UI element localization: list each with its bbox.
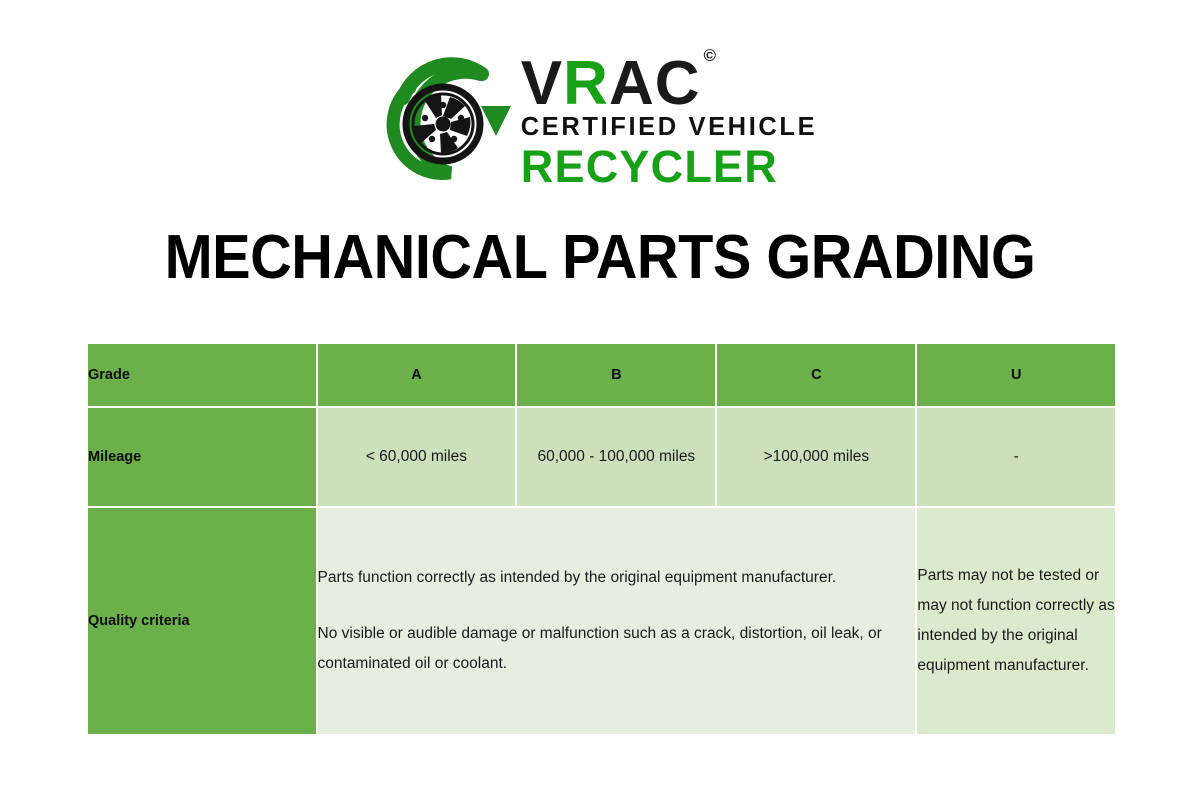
logo-letter-r: R [563, 49, 609, 118]
cell-quality-abc: Parts function correctly as intended by … [318, 508, 916, 734]
logo-letters-ac: AC [609, 49, 701, 118]
logo-letter-v: V [521, 49, 563, 118]
recycling-arrow-wheel-icon [383, 52, 515, 192]
logo-tagline-secondary: RECYCLER [521, 144, 817, 189]
table-row-mileage: Mileage < 60,000 miles 60,000 - 100,000 … [88, 408, 1115, 506]
cell-mileage-b: 60,000 - 100,000 miles [517, 408, 715, 506]
vrac-logo: VRAC© CERTIFIED VEHICLE RECYCLER [0, 52, 1200, 192]
header-cell-c: C [717, 344, 915, 406]
table-row-quality-criteria: Quality criteria Parts function correctl… [88, 508, 1115, 734]
logo-tagline: CERTIFIED VEHICLE [521, 113, 817, 141]
copyright-icon: © [704, 46, 717, 65]
cell-mileage-u: - [917, 408, 1115, 506]
header-cell-b: B [517, 344, 715, 406]
logo-brand-name: VRAC© [521, 55, 817, 112]
page-title: MECHANICAL PARTS GRADING [42, 222, 1158, 293]
document-page: VRAC© CERTIFIED VEHICLE RECYCLER MECHANI… [0, 0, 1200, 800]
cell-quality-u: Parts may not be tested or may not funct… [917, 508, 1115, 734]
cell-mileage-a: < 60,000 miles [318, 408, 516, 506]
cell-mileage-c: >100,000 miles [717, 408, 915, 506]
mechanical-parts-grading-table: Grade A B C U Mileage < 60,000 miles 60,… [86, 342, 1117, 736]
table-header-row: Grade A B C U [88, 344, 1115, 406]
header-cell-u: U [917, 344, 1115, 406]
quality-paragraph-1: Parts function correctly as intended by … [318, 563, 916, 593]
logo-inner: VRAC© CERTIFIED VEHICLE RECYCLER [383, 52, 817, 192]
header-cell-grade: Grade [88, 344, 316, 406]
quality-paragraph-2: No visible or audible damage or malfunct… [318, 619, 916, 679]
header-cell-a: A [318, 344, 516, 406]
row-label-quality-criteria: Quality criteria [88, 508, 316, 734]
logo-wordmark: VRAC© CERTIFIED VEHICLE RECYCLER [521, 55, 817, 188]
row-label-mileage: Mileage [88, 408, 316, 506]
